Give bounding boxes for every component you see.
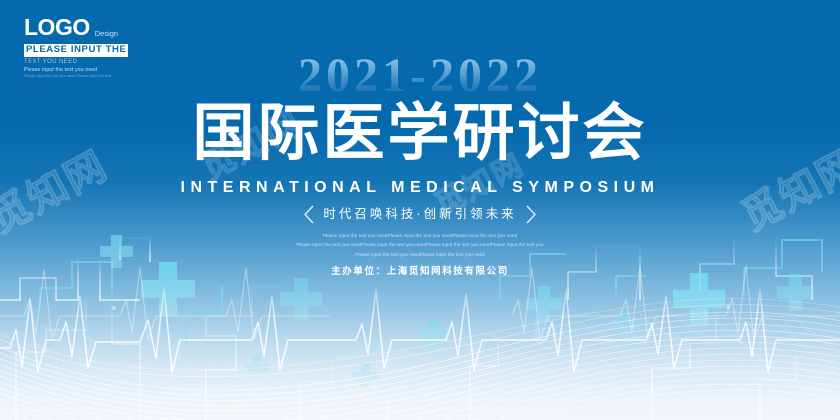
bracket-left-icon [304,205,314,224]
organizer-line: 主办单位：上海觅知网科技有限公司 [0,267,840,277]
slogan-bar: 时代召唤科技·创新引领未来 [0,205,840,224]
ecg-heartbeat-line-icon [0,288,840,372]
page-subtitle-english: INTERNATIONAL MEDICAL SYMPOSIUM [0,180,840,196]
accent-dot-icon [112,305,730,340]
logo-title-row: LOGO Design [24,16,144,39]
bracket-right-icon [526,205,536,224]
description-line-3: Please input the text you needPlease inp… [290,250,550,259]
description-paragraph: Please input the text you needPlease inp… [290,231,550,259]
year-range: 2021-2022 [0,52,840,100]
logo-tagline: Design [95,30,118,40]
ecg-heartbeat-secondary-icon [0,266,840,342]
slogan-text: 时代召唤科技·创新引领未来 [323,208,516,221]
page-title: 国际医学研讨会 [0,100,840,165]
description-line-1: Please input the text you needPlease inp… [290,231,550,240]
poster-canvas: 觅知网 觅知网 觅知网 觅知网 LOGO Design PLEASE INPUT… [0,0,840,420]
description-line-2: Please input the text you needPlease inp… [290,240,550,249]
logo-wordmark: LOGO [24,16,90,39]
mesh-crosshatch-icon [0,310,840,420]
flowing-mesh-wave-icon [0,299,840,420]
